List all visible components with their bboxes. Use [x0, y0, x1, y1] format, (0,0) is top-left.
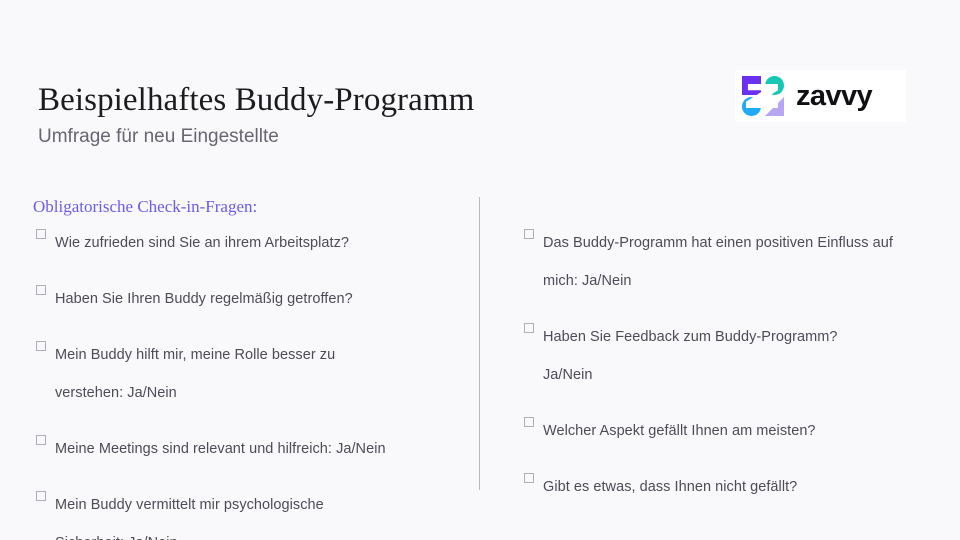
- checkbox-icon[interactable]: [36, 341, 46, 351]
- question-line-continuation: Sicherheit: Ja/Nein: [55, 524, 324, 540]
- brand-wordmark: zavvy: [796, 80, 872, 113]
- checkbox-icon[interactable]: [36, 285, 46, 295]
- question-text: Mein Buddy hilft mir, meine Rolle besser…: [55, 336, 335, 412]
- question-line: Gibt es etwas, dass Ihnen nicht gefällt?: [543, 468, 797, 506]
- page-title: Beispielhaftes Buddy-Programm: [38, 80, 598, 120]
- checkbox-icon[interactable]: [524, 323, 534, 333]
- column-divider: [479, 197, 480, 490]
- checkbox-icon[interactable]: [524, 229, 534, 239]
- question-text: Gibt es etwas, dass Ihnen nicht gefällt?: [543, 468, 797, 506]
- question-line: Das Buddy-Programm hat einen positiven E…: [543, 224, 893, 262]
- list-item[interactable]: Wie zufrieden sind Sie an ihrem Arbeitsp…: [36, 224, 456, 262]
- question-text: Welcher Aspekt gefällt Ihnen am meisten?: [543, 412, 816, 450]
- question-text: Wie zufrieden sind Sie an ihrem Arbeitsp…: [55, 224, 349, 262]
- checkbox-icon[interactable]: [36, 435, 46, 445]
- question-list-right: Das Buddy-Programm hat einen positiven E…: [524, 224, 944, 524]
- question-line: Wie zufrieden sind Sie an ihrem Arbeitsp…: [55, 224, 349, 262]
- brand-logo: zavvy: [735, 70, 906, 122]
- logo-z-glyph-icon: [746, 84, 778, 108]
- section-heading: Obligatorische Check-in-Fragen:: [33, 196, 257, 218]
- question-text: Meine Meetings sind relevant und hilfrei…: [55, 430, 386, 468]
- slide-canvas: Beispielhaftes Buddy-Programm Umfrage fü…: [0, 0, 960, 540]
- question-line: Haben Sie Ihren Buddy regelmäßig getroff…: [55, 280, 353, 318]
- question-line: Meine Meetings sind relevant und hilfrei…: [55, 430, 386, 468]
- question-line-continuation: Ja/Nein: [543, 356, 837, 394]
- list-item[interactable]: Welcher Aspekt gefällt Ihnen am meisten?: [524, 412, 944, 450]
- question-text: Haben Sie Ihren Buddy regelmäßig getroff…: [55, 280, 353, 318]
- question-line: Haben Sie Feedback zum Buddy-Programm?: [543, 318, 837, 356]
- checkbox-icon[interactable]: [524, 473, 534, 483]
- list-item[interactable]: Haben Sie Feedback zum Buddy-Programm? J…: [524, 318, 944, 394]
- question-text: Haben Sie Feedback zum Buddy-Programm? J…: [543, 318, 837, 394]
- checkbox-icon[interactable]: [36, 491, 46, 501]
- list-item[interactable]: Mein Buddy vermittelt mir psychologische…: [36, 486, 456, 540]
- question-text: Das Buddy-Programm hat einen positiven E…: [543, 224, 893, 300]
- header-block: Beispielhaftes Buddy-Programm Umfrage fü…: [38, 80, 598, 150]
- question-line-continuation: verstehen: Ja/Nein: [55, 374, 335, 412]
- checkbox-icon[interactable]: [36, 229, 46, 239]
- list-item[interactable]: Meine Meetings sind relevant und hilfrei…: [36, 430, 456, 468]
- question-list-left: Wie zufrieden sind Sie an ihrem Arbeitsp…: [36, 224, 456, 540]
- question-line: Welcher Aspekt gefällt Ihnen am meisten?: [543, 412, 816, 450]
- question-line: Mein Buddy hilft mir, meine Rolle besser…: [55, 336, 335, 374]
- page-subtitle: Umfrage für neu Eingestellte: [38, 124, 598, 150]
- list-item[interactable]: Das Buddy-Programm hat einen positiven E…: [524, 224, 944, 300]
- question-line-continuation: mich: Ja/Nein: [543, 262, 893, 300]
- list-item[interactable]: Haben Sie Ihren Buddy regelmäßig getroff…: [36, 280, 456, 318]
- question-line: Mein Buddy vermittelt mir psychologische: [55, 486, 324, 524]
- list-item[interactable]: Gibt es etwas, dass Ihnen nicht gefällt?: [524, 468, 944, 506]
- list-item[interactable]: Mein Buddy hilft mir, meine Rolle besser…: [36, 336, 456, 412]
- question-text: Mein Buddy vermittelt mir psychologische…: [55, 486, 324, 540]
- checkbox-icon[interactable]: [524, 417, 534, 427]
- zavvy-logo-mark-icon: [740, 73, 786, 119]
